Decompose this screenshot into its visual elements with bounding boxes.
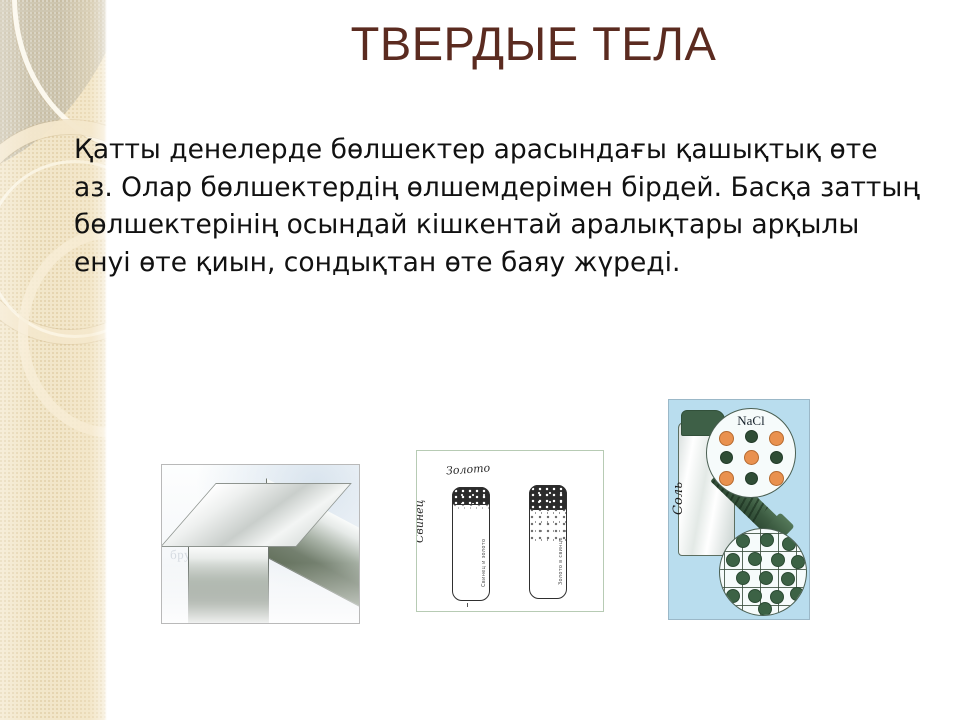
atom-metal [770,590,784,604]
atom-metal [726,589,740,603]
atom-metal [759,571,773,585]
atom-metal [748,552,762,566]
atom-metal [760,533,774,547]
band-right-edge-fade [104,0,107,720]
atom-metal [791,555,805,569]
page-title: ТВЕРДЫЕ ТЕЛА [107,16,960,72]
atom-metal [758,602,772,616]
decorative-left-band [0,0,107,720]
atom-sodium [719,431,734,446]
tick-label-right: Золото в свинце [558,537,564,585]
photo-bottom-fade [162,465,359,623]
tick-label-left: Свинец и золото [481,539,487,587]
atom-sodium [719,471,734,486]
label-gold: Золото [446,461,491,477]
atom-sodium [744,450,759,465]
atom-chlorine [745,472,758,485]
atom-metal [782,537,796,551]
atom-metal [726,553,740,567]
figure-crystal-lattice: Соль NaCl [668,399,810,620]
figure-metal-bar: солидол нужно на алюминия бруска [161,464,360,624]
atom-chlorine [770,451,783,464]
label-nacl: NaCl [707,413,795,429]
lattice-metal-circle [719,528,807,616]
cylinder-after-cap [529,485,567,510]
atom-metal [781,572,795,586]
atom-metal [771,553,785,567]
lattice-nacl-circle: NaCl [706,408,796,498]
atom-chlorine [720,451,733,464]
atom-metal [790,587,804,601]
baseline-mark [467,603,468,607]
slide-canvas: ТВЕРДЫЕ ТЕЛА Қатты денелерде бөлшектер а… [0,0,960,720]
atom-sodium [769,431,784,446]
body-paragraph: Қатты денелерде бөлшектер арасындағы қаш… [74,131,924,281]
band-sheen-overlay [0,0,107,720]
atom-metal [736,534,750,548]
figure-diffusion-cylinders: Золото Свинец Свинец и золото Золото в с… [416,450,604,612]
atom-sodium [769,471,784,486]
atom-metal [736,571,750,585]
label-salt: Соль [671,482,686,515]
label-lead: Свинец [416,500,426,543]
atom-chlorine [745,430,758,443]
cylinder-before-diffusion-zone [453,503,489,509]
atom-metal [748,589,762,603]
